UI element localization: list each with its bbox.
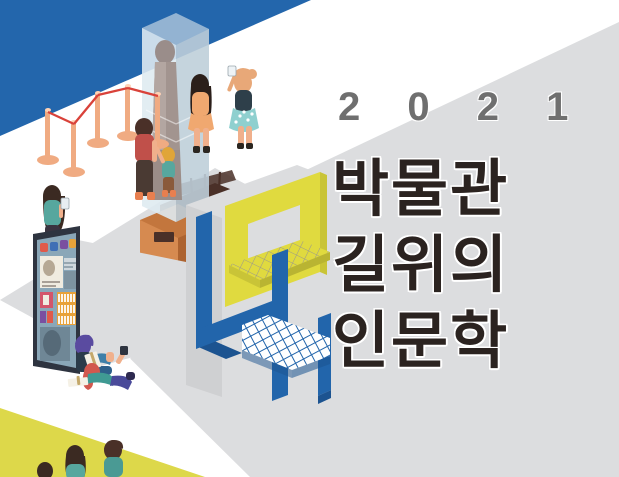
title-line-3: 인문학 <box>332 304 592 380</box>
title-line-2: 길위의 <box>332 228 592 304</box>
poster-title: 박물관 길위의 인문학 <box>332 152 592 380</box>
poster-canvas: 2 0 2 1 박물관 길위의 인문학 <box>0 0 619 477</box>
title-line-1: 박물관 <box>332 152 592 228</box>
year-label: 2 0 2 1 <box>338 84 578 130</box>
